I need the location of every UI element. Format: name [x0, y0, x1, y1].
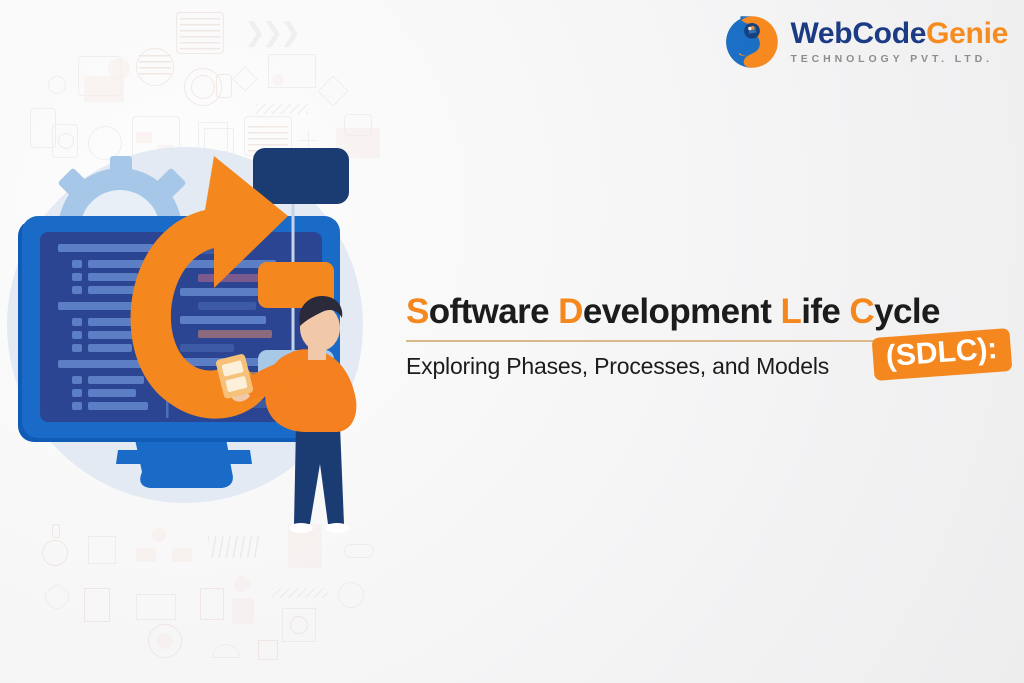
target-box-doodle-icon: [282, 608, 316, 642]
document-doodle-icon: [216, 74, 232, 98]
spreadsheet-doodle-icon: [176, 12, 224, 54]
banner-canvas: ❯❯❯: [0, 0, 1024, 683]
blob-doodle-icon: [41, 581, 72, 612]
pyramid-doodle-icon: [136, 594, 176, 620]
headline-block: Software Development Life Cycle Explorin…: [406, 292, 1006, 380]
title-word-ife: ife: [801, 292, 849, 331]
check-circle-doodle-icon: [338, 582, 364, 608]
gear-orbit-doodle-icon: [148, 624, 182, 658]
compass-doodle-icon: [184, 68, 222, 106]
chevrons-doodle-icon: ❯❯❯: [244, 18, 297, 48]
title-divider-rule: [406, 340, 886, 342]
title-word-ycle: ycle: [874, 292, 940, 331]
file-transfer-doodle-icon: [200, 588, 224, 620]
sun-doodle-icon: [48, 76, 66, 94]
cone-doodle-icon: [258, 640, 278, 660]
logo-tagline: TECHNOLOGY PVT. LTD.: [790, 54, 1008, 65]
envelope-doodle-icon: [84, 76, 124, 102]
gear-orbit-core-doodle: [157, 633, 173, 649]
diamond-doodle-icon: [232, 66, 257, 91]
pie-doodle-icon: [108, 58, 130, 80]
globe-doodle-icon: [136, 48, 174, 86]
logo-wordmark-part2: Genie: [926, 17, 1008, 50]
settings-node-doodle-icon: [234, 576, 250, 592]
globe-lines-doodle: [139, 55, 171, 79]
workflow-node2-doodle: [172, 548, 192, 562]
flow-box-top: [253, 148, 349, 204]
title-initial-c: C: [849, 292, 874, 331]
title-word-oftware: oftware: [429, 292, 558, 331]
compass-inner-doodle: [191, 75, 215, 99]
hands-document-doodle-icon: [84, 588, 110, 622]
monitor-stand-base: [116, 450, 252, 464]
workflow-doodle-icon: [136, 548, 156, 562]
sdlc-developer-monitor-illustration: [0, 120, 420, 550]
logo-wordmark-part1: WebCode: [790, 17, 926, 50]
chart-card-doodle-icon: [78, 56, 122, 96]
title-initial-s: S: [406, 292, 429, 331]
page-title: Software Development Life Cycle: [406, 292, 1006, 331]
logo-wordmark: WebCodeGenie: [790, 19, 1008, 49]
triangle-doodle-icon: [317, 75, 348, 106]
target-rings-doodle-icon: [290, 616, 308, 634]
logo-text-group: WebCodeGenie TECHNOLOGY PVT. LTD.: [790, 19, 1008, 65]
person-legs: [294, 426, 344, 524]
person-shoe-right: [325, 523, 349, 533]
webcodegenie-circular-g-logo-icon: [724, 14, 780, 70]
spreadsheet-rows-doodle: [180, 18, 220, 50]
illustration-svg: [0, 120, 420, 550]
person-shoe-left: [289, 523, 313, 533]
server-stack-doodle-icon: [232, 598, 254, 624]
arc-doodle-icon: [212, 644, 240, 658]
title-initial-d: D: [558, 292, 583, 331]
wave-doodle-icon: [256, 104, 308, 114]
zigzag-doodle-icon: [272, 588, 328, 598]
title-word-evelopment: evelopment: [583, 292, 781, 331]
presenter-head-doodle: [272, 74, 284, 86]
title-initial-l: L: [780, 292, 801, 331]
presenter-board-doodle-icon: [268, 54, 316, 88]
brand-logo[interactable]: WebCodeGenie TECHNOLOGY PVT. LTD.: [724, 14, 1008, 70]
